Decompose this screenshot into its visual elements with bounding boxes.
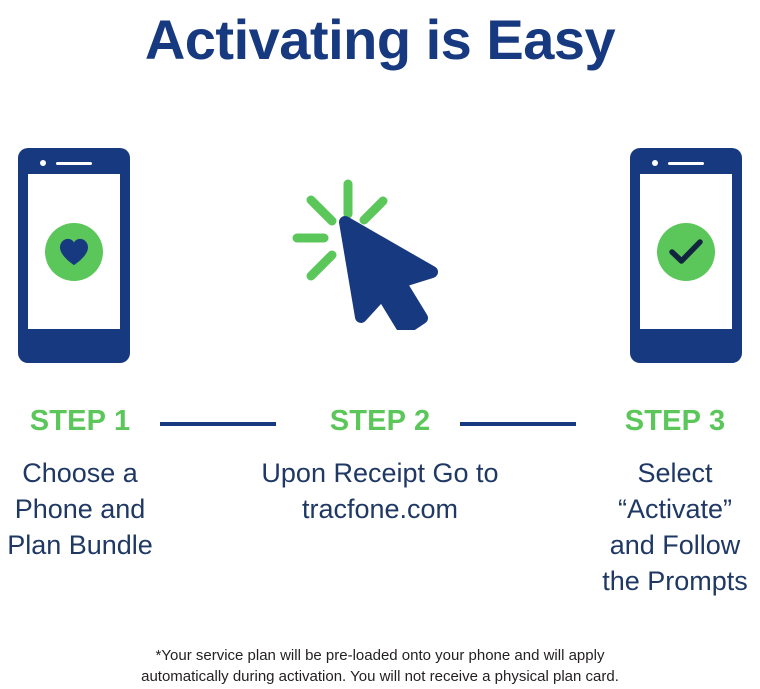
step-connector-2 <box>460 422 576 426</box>
phone-speaker-bar-icon <box>668 162 704 165</box>
green-badge-circle <box>45 223 103 281</box>
step-3-description: Select “Activate” and Follow the Prompts <box>590 455 760 599</box>
steps-row: STEP 1 STEP 2 STEP 3 <box>0 402 760 444</box>
phone-speaker-bar-icon <box>56 162 92 165</box>
click-cursor-icon <box>282 160 462 330</box>
step-1-label: STEP 1 <box>0 402 165 440</box>
step-2-label: STEP 2 <box>295 402 465 440</box>
phone-with-heart-icon <box>18 148 130 363</box>
cursor-arrow-icon <box>345 222 432 330</box>
step-3-label: STEP 3 <box>590 402 760 440</box>
phone-camera-dot-icon <box>40 160 46 166</box>
phone-screen <box>640 174 732 329</box>
phone-camera-dot-icon <box>652 160 658 166</box>
step-2-description: Upon Receipt Go to tracfone.com <box>230 455 530 527</box>
step-connector-1 <box>160 422 276 426</box>
green-badge-circle <box>657 223 715 281</box>
page-title: Activating is Easy <box>0 6 760 74</box>
heart-icon <box>59 238 89 266</box>
icon-row <box>0 140 760 380</box>
phone-with-checkmark-icon <box>630 148 742 363</box>
step-1-description: Choose a Phone and Plan Bundle <box>0 455 165 563</box>
checkmark-icon <box>669 239 703 265</box>
phone-screen <box>28 174 120 329</box>
footnote-disclaimer: *Your service plan will be pre-loaded on… <box>50 645 710 687</box>
